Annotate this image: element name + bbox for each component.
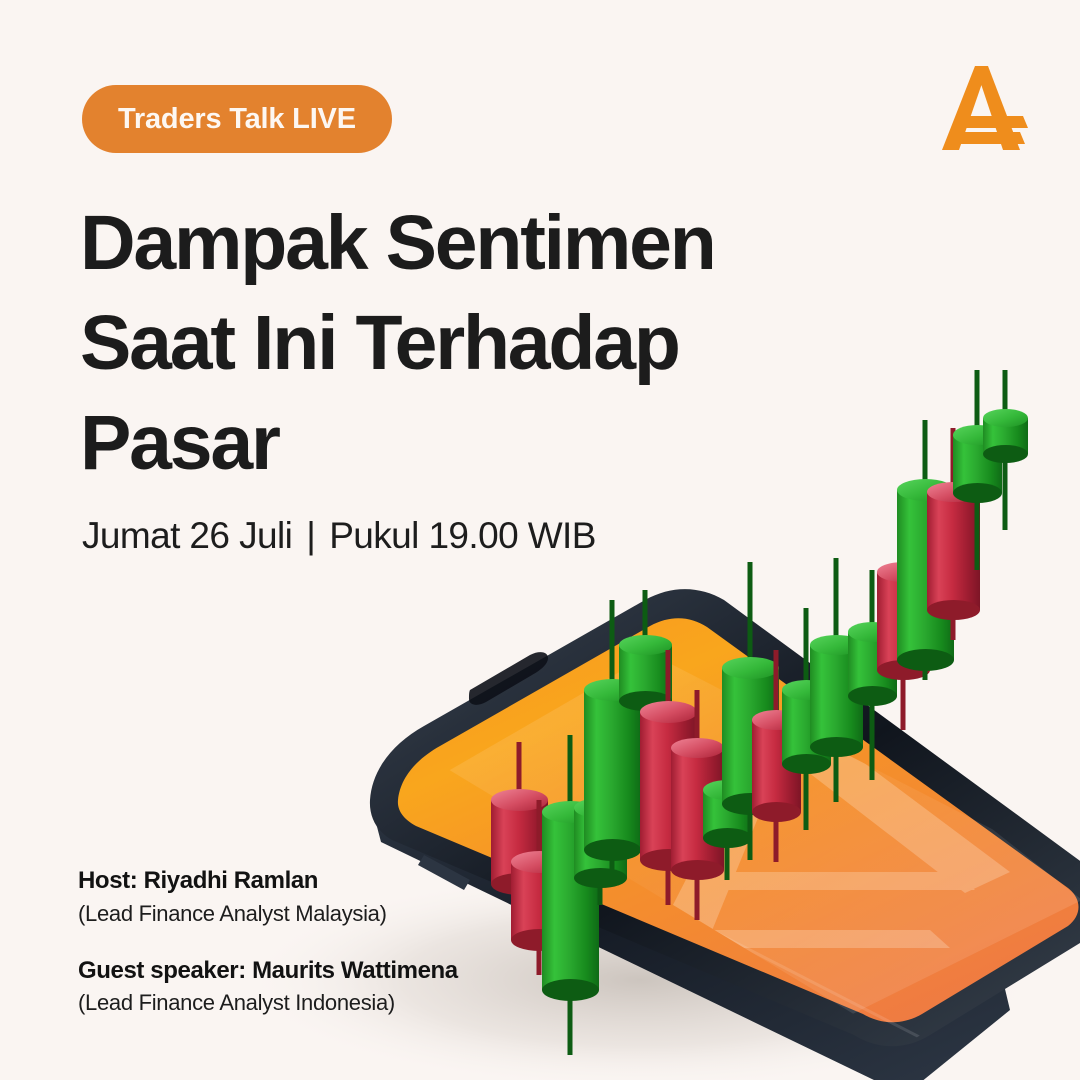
schedule-line: Jumat 26 Juli | Pukul 19.00 WIB: [82, 515, 596, 557]
schedule-time: Pukul 19.00 WIB: [329, 515, 596, 557]
credit-guest: Guest speaker: Maurits Wattimena (Lead F…: [78, 956, 458, 1020]
host-role: (Lead Finance Analyst Malaysia): [78, 899, 458, 930]
guest-name: Guest speaker: Maurits Wattimena: [78, 956, 458, 987]
credits-block: Host: Riyadhi Ramlan (Lead Finance Analy…: [78, 866, 458, 1019]
live-badge: Traders Talk LIVE: [82, 85, 392, 153]
headline-line-3: Pasar: [80, 393, 840, 493]
headline-line-1: Dampak Sentimen: [80, 193, 840, 293]
credit-host: Host: Riyadhi Ramlan (Lead Finance Analy…: [78, 866, 458, 930]
page-title: Dampak Sentimen Saat Ini Terhadap Pasar: [80, 193, 840, 493]
headline-line-2: Saat Ini Terhadap: [80, 293, 840, 393]
schedule-separator: |: [306, 515, 315, 557]
live-badge-label: Traders Talk LIVE: [118, 103, 356, 136]
guest-role: (Lead Finance Analyst Indonesia): [78, 988, 458, 1019]
host-name: Host: Riyadhi Ramlan: [78, 866, 458, 897]
schedule-date: Jumat 26 Juli: [82, 515, 292, 557]
brand-a-logo: [928, 60, 1032, 156]
poster-canvas: Traders Talk LIVE Dampak Sentimen Saat I…: [0, 0, 1080, 1080]
